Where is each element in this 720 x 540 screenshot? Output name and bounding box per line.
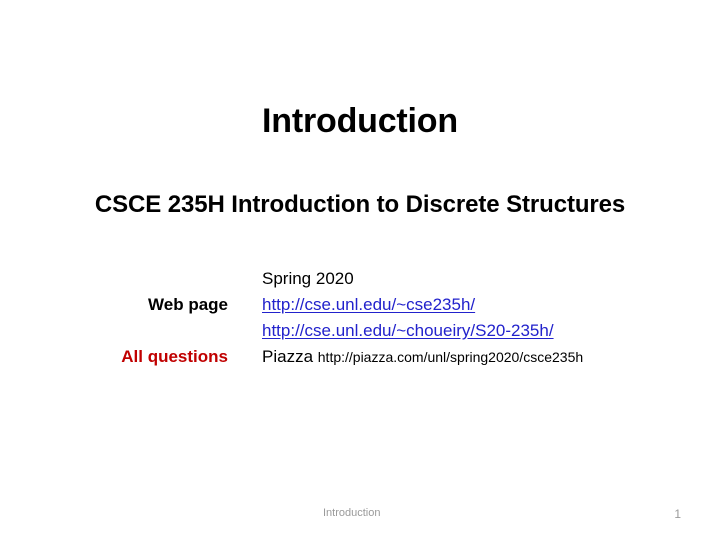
page-title: Introduction <box>0 103 720 140</box>
course-site-link[interactable]: http://cse.unl.edu/~cse235h/ <box>262 295 475 314</box>
info-row-webpage-alt: http://cse.unl.edu/~choueiry/S20-235h/ <box>0 318 720 344</box>
footer-page-number: 1 <box>674 507 681 521</box>
info-label-web-page: Web page <box>0 292 228 318</box>
info-value-term: Spring 2020 <box>228 266 354 292</box>
course-subtitle: CSCE 235H Introduction to Discrete Struc… <box>0 191 720 219</box>
info-value-web-page: http://cse.unl.edu/~cse235h/ <box>228 292 475 318</box>
info-block: Spring 2020 Web page http://cse.unl.edu/… <box>0 266 720 370</box>
info-label-all-questions: All questions <box>0 344 228 370</box>
info-row-term: Spring 2020 <box>0 266 720 292</box>
footer-title: Introduction <box>323 507 380 519</box>
info-value-web-page-alt: http://cse.unl.edu/~choueiry/S20-235h/ <box>228 318 554 344</box>
info-row-webpage: Web page http://cse.unl.edu/~cse235h/ <box>0 292 720 318</box>
piazza-url: http://piazza.com/unl/spring2020/csce235… <box>318 349 583 365</box>
slide-footer: Introduction 1 <box>0 507 720 527</box>
info-value-questions: Piazza http://piazza.com/unl/spring2020/… <box>228 344 583 370</box>
instructor-site-link[interactable]: http://cse.unl.edu/~choueiry/S20-235h/ <box>262 321 554 340</box>
piazza-label: Piazza <box>262 347 313 366</box>
slide-canvas: Introduction CSCE 235H Introduction to D… <box>0 0 720 540</box>
info-row-questions: All questions Piazza http://piazza.com/u… <box>0 344 720 370</box>
